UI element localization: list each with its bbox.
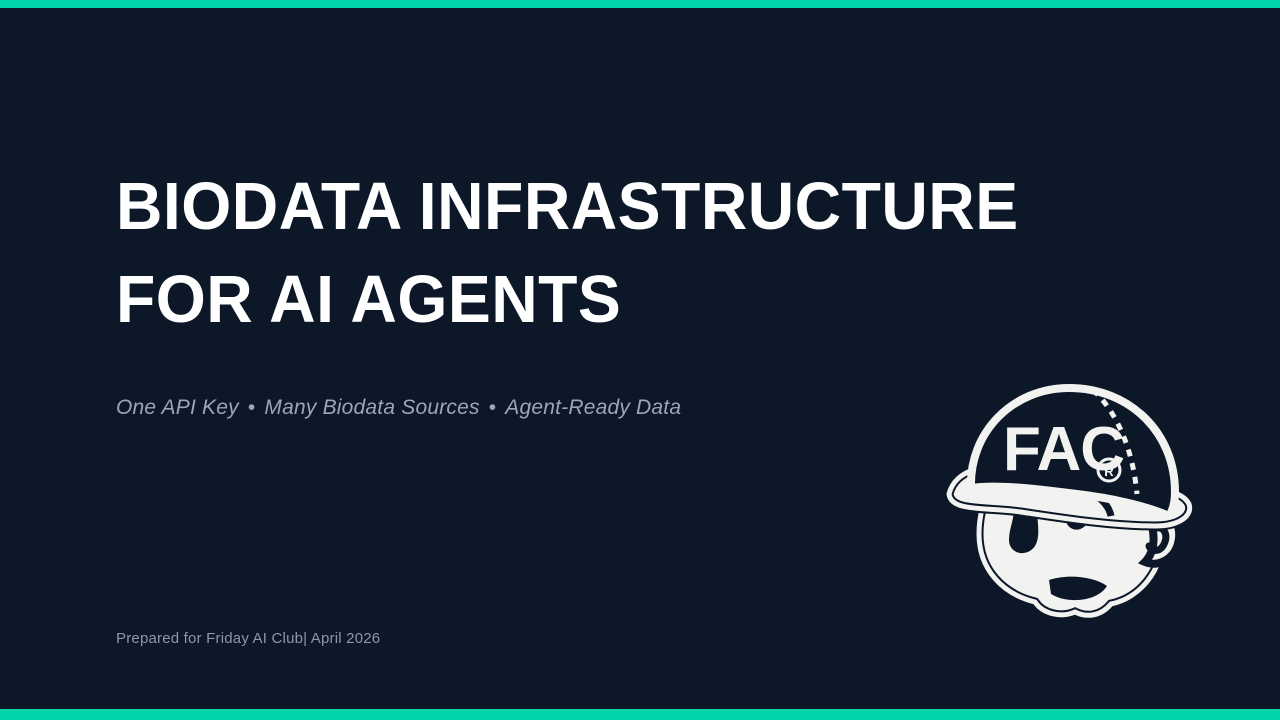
subtitle-tagline: One API Key•Many Biodata Sources•Agent-R… <box>116 396 681 420</box>
title-line-1: BIODATA INFRASTRUCTURE <box>116 160 961 253</box>
title-line-2: FOR AI AGENTS <box>116 253 961 346</box>
page-title: BIODATA INFRASTRUCTURE FOR AI AGENTS <box>116 160 996 346</box>
subtitle-item-2: Many Biodata Sources <box>264 396 479 419</box>
subtitle-separator-2: • <box>480 396 506 419</box>
subtitle-item-3: Agent-Ready Data <box>505 396 681 419</box>
subtitle-item-1: One API Key <box>116 396 239 419</box>
mascot-head-icon: FAC R <box>949 388 1190 615</box>
top-accent-bar <box>0 0 1280 8</box>
subtitle-separator-1: • <box>239 396 265 419</box>
footer-attribution: Prepared for Friday AI Club| April 2026 <box>116 630 380 647</box>
bottom-accent-bar <box>0 709 1280 720</box>
title-slide: BIODATA INFRASTRUCTURE FOR AI AGENTS One… <box>0 0 1280 720</box>
fac-logo: FAC R <box>941 366 1199 628</box>
registered-trademark-icon: R <box>1104 464 1114 479</box>
